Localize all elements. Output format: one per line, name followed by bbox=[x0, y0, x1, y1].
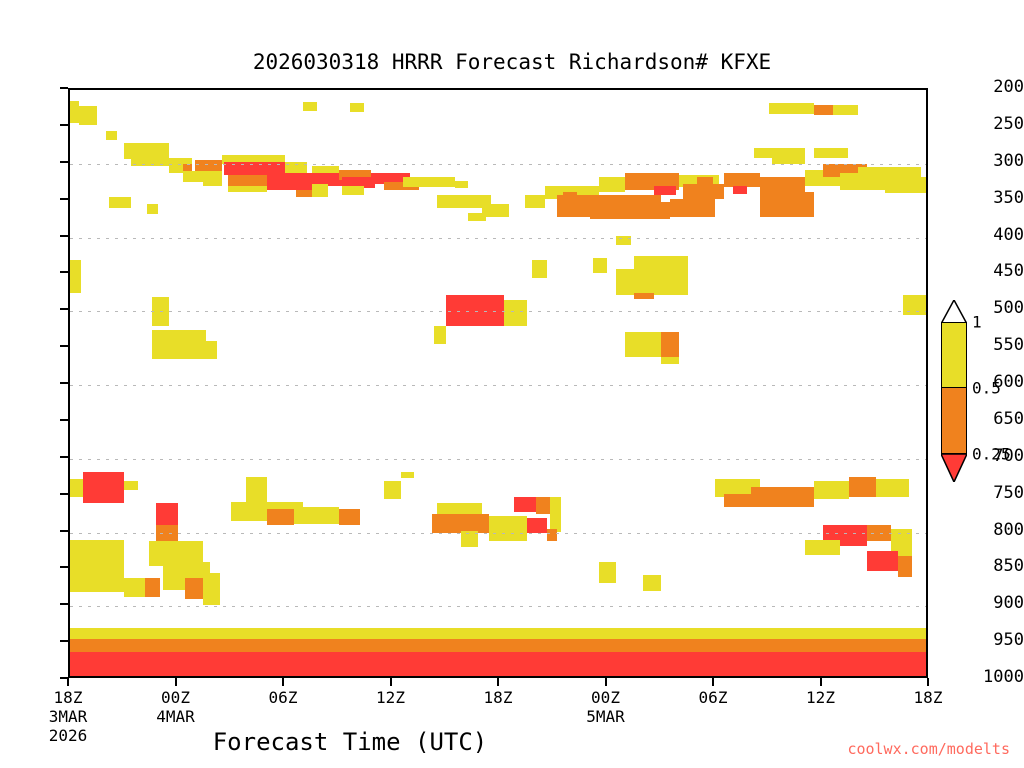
colorbar-body bbox=[941, 322, 967, 454]
x-tick-mark bbox=[497, 678, 499, 686]
x-tick-label: 12Z bbox=[806, 688, 835, 707]
y-tick-mark bbox=[60, 308, 68, 310]
y-tick-mark bbox=[60, 530, 68, 532]
x-tick-label: 00Z 5MAR bbox=[586, 688, 625, 726]
y-tick-label: 300 bbox=[966, 153, 1024, 170]
x-tick-mark bbox=[820, 678, 822, 686]
y-tick-label: 750 bbox=[966, 485, 1024, 502]
colorbar-segment bbox=[941, 322, 967, 388]
colorbar-segment bbox=[941, 388, 967, 454]
chart-figure: 2026030318 HRRR Forecast Richardson# KFX… bbox=[0, 0, 1024, 768]
x-tick-label: 18Z bbox=[484, 688, 513, 707]
y-tick-label: 850 bbox=[966, 558, 1024, 575]
y-tick-label: 450 bbox=[966, 263, 1024, 280]
x-tick-mark bbox=[390, 678, 392, 686]
y-tick-label: 950 bbox=[966, 632, 1024, 649]
y-tick-label: 200 bbox=[966, 79, 1024, 96]
y-tick-label: 250 bbox=[966, 116, 1024, 133]
x-tick-mark bbox=[927, 678, 929, 686]
y-tick-mark bbox=[60, 603, 68, 605]
y-tick-mark bbox=[60, 493, 68, 495]
x-tick-mark bbox=[605, 678, 607, 686]
y-tick-label: 1000 bbox=[966, 669, 1024, 686]
colorbar-tick-label: 1 bbox=[972, 313, 982, 332]
terrain-layer bbox=[70, 90, 926, 676]
y-tick-label: 900 bbox=[966, 595, 1024, 612]
x-tick-label: 06Z bbox=[269, 688, 298, 707]
plot-area bbox=[68, 88, 928, 678]
x-tick-label: 12Z bbox=[376, 688, 405, 707]
y-tick-mark bbox=[60, 161, 68, 163]
y-tick-label: 800 bbox=[966, 522, 1024, 539]
watermark: coolwx.com/modelts bbox=[847, 740, 1010, 758]
x-tick-label: 18Z bbox=[914, 688, 943, 707]
y-tick-mark bbox=[60, 419, 68, 421]
x-axis-title: Forecast Time (UTC) bbox=[0, 728, 700, 756]
y-tick-label: 350 bbox=[966, 190, 1024, 207]
y-tick-mark bbox=[60, 124, 68, 126]
x-tick-mark bbox=[282, 678, 284, 686]
colorbar-bottom-arrow-outline bbox=[941, 454, 967, 482]
x-tick-label: 06Z bbox=[699, 688, 728, 707]
y-tick-mark bbox=[60, 271, 68, 273]
y-tick-mark bbox=[60, 456, 68, 458]
y-tick-label: 400 bbox=[966, 227, 1024, 244]
chart-title: 2026030318 HRRR Forecast Richardson# KFX… bbox=[0, 50, 1024, 74]
x-tick-label: 00Z 4MAR bbox=[156, 688, 195, 726]
y-tick-mark bbox=[60, 235, 68, 237]
y-tick-mark bbox=[60, 382, 68, 384]
y-tick-mark bbox=[60, 198, 68, 200]
x-tick-mark bbox=[712, 678, 714, 686]
colorbar-tick-label: 0.25 bbox=[972, 445, 1011, 464]
colorbar-top-arrow-outline bbox=[941, 300, 967, 324]
y-tick-mark bbox=[60, 640, 68, 642]
y-tick-mark bbox=[60, 566, 68, 568]
colorbar-tick-label: 0.5 bbox=[972, 379, 1001, 398]
colorbar: 10.50.25 bbox=[941, 300, 1021, 480]
x-tick-mark bbox=[175, 678, 177, 686]
y-tick-mark bbox=[60, 345, 68, 347]
y-tick-mark bbox=[60, 87, 68, 89]
x-tick-mark bbox=[67, 678, 69, 686]
